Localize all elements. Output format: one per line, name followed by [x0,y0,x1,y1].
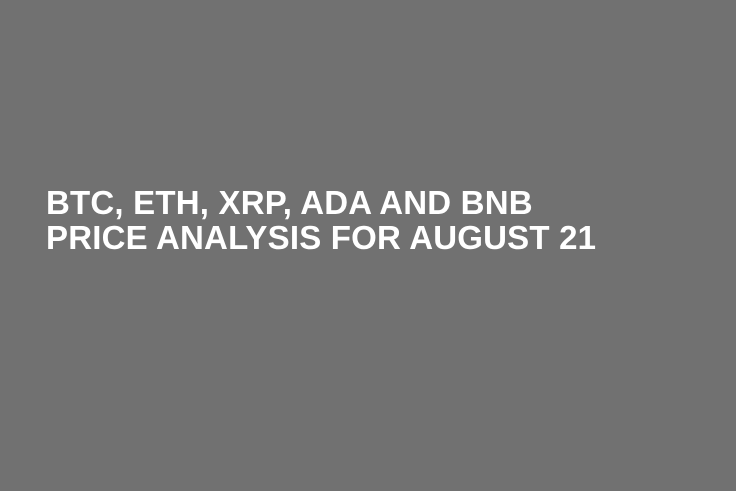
article-hero-card: BTC, ETH, XRP, ADA AND BNB PRICE ANALYSI… [0,0,736,491]
page-title: BTC, ETH, XRP, ADA AND BNB PRICE ANALYSI… [46,185,686,255]
headline-line-2: PRICE ANALYSIS FOR AUGUST 21 [46,220,686,255]
headline-line-1: BTC, ETH, XRP, ADA AND BNB [46,185,686,220]
